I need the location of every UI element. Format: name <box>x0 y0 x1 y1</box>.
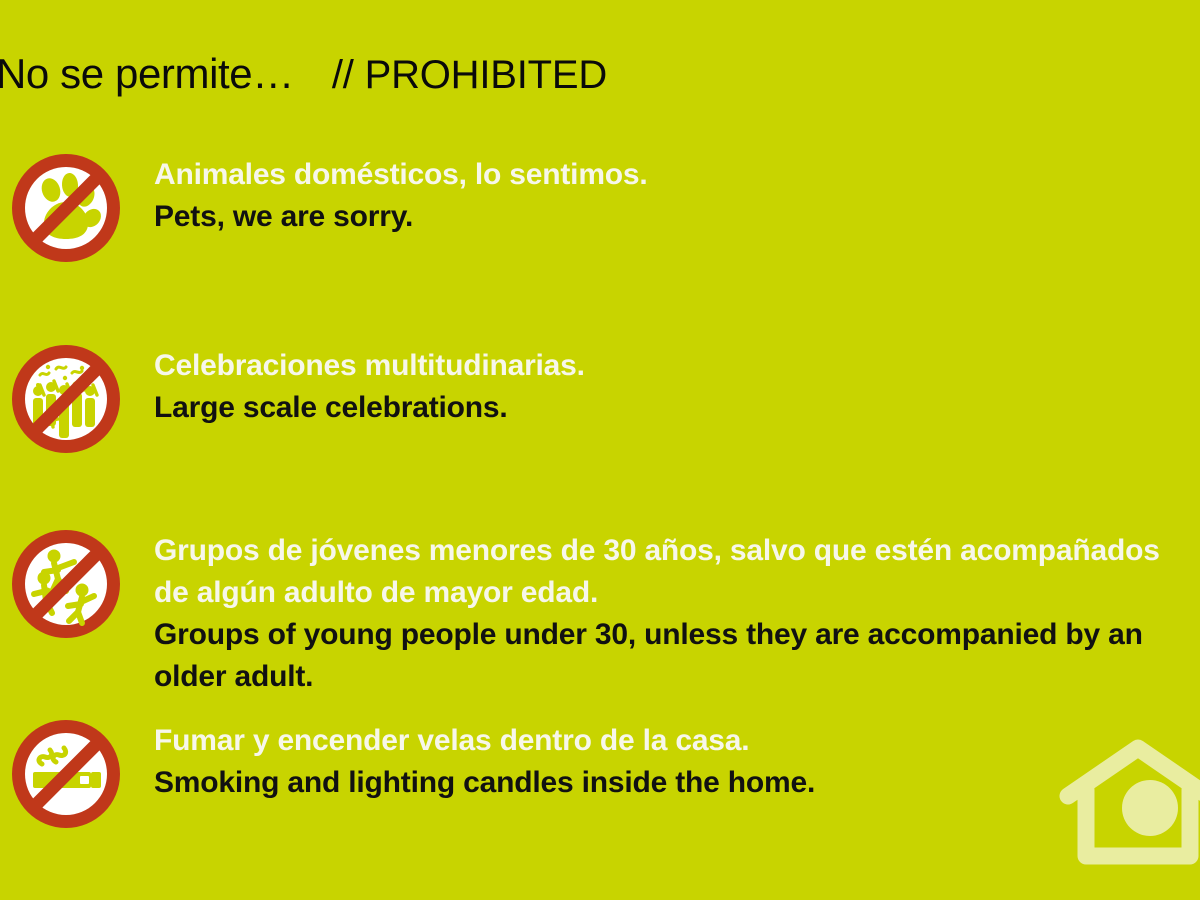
no-pets-paw-icon <box>10 152 122 264</box>
rule-english-line: Large scale celebrations. <box>154 387 585 429</box>
slide-title-english: // PROHIBITED <box>332 53 607 98</box>
rule-spanish-line: Fumar y encender velas dentro de la casa… <box>154 720 815 762</box>
slide-title-spanish: No se permite… <box>0 50 294 98</box>
rule-english-line: Groups of young people under 30, unless … <box>154 614 1160 656</box>
prohibited-rules-slide: No se permite… // PROHIBITED <box>0 0 1200 900</box>
rule-spanish-line: Grupos de jóvenes menores de 30 años, sa… <box>154 530 1160 572</box>
rule-spanish-line: Animales domésticos, lo sentimos. <box>154 154 648 196</box>
no-smoking-cigarette-icon <box>10 718 122 830</box>
rule-item-large-celebrations: Celebraciones multitudinarias. Large sca… <box>0 343 1200 455</box>
no-large-celebrations-crowd-icon <box>10 343 122 455</box>
rule-item-smoking: Fumar y encender velas dentro de la casa… <box>0 718 1200 830</box>
rule-spanish-line: Celebraciones multitudinarias. <box>154 345 585 387</box>
rule-english-line: older adult. <box>154 656 1160 698</box>
rule-text-smoking: Fumar y encender velas dentro de la casa… <box>154 718 815 804</box>
slide-title: No se permite… // PROHIBITED <box>0 50 607 98</box>
rule-spanish-line: de algún adulto de mayor edad. <box>154 572 1160 614</box>
no-young-groups-dancing-icon <box>10 528 122 640</box>
rule-text-young-groups: Grupos de jóvenes menores de 30 años, sa… <box>154 528 1160 698</box>
rule-text-pets: Animales domésticos, lo sentimos. Pets, … <box>154 152 648 238</box>
house-with-circle-logo <box>1058 738 1200 868</box>
rule-text-large-celebrations: Celebraciones multitudinarias. Large sca… <box>154 343 585 429</box>
rule-item-young-groups: Grupos de jóvenes menores de 30 años, sa… <box>0 528 1200 698</box>
rule-english-line: Pets, we are sorry. <box>154 196 648 238</box>
rule-english-line: Smoking and lighting candles inside the … <box>154 762 815 804</box>
rule-item-pets: Animales domésticos, lo sentimos. Pets, … <box>0 152 1200 264</box>
